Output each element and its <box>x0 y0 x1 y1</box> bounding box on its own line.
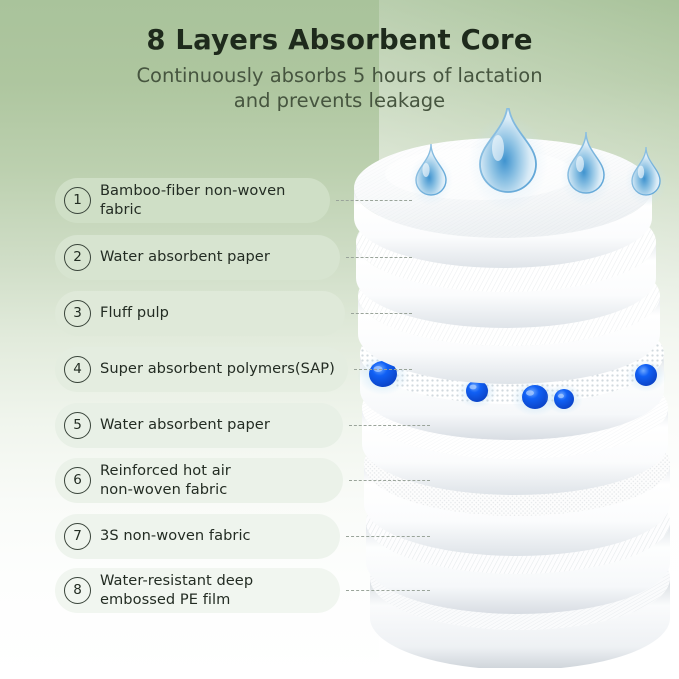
layer-label-3: Fluff pulp <box>100 304 169 323</box>
layer-label-1: Bamboo-fiber non-woven fabric <box>100 182 330 219</box>
page-subtitle: Continuously absorbs 5 hours of lactatio… <box>0 64 679 112</box>
layer-label-6: Reinforced hot air non-woven fabric <box>100 462 231 499</box>
layer-pill-3[interactable]: 3Fluff pulp <box>55 291 345 336</box>
layer-number-3: 3 <box>64 300 91 327</box>
layer-pill-1[interactable]: 1Bamboo-fiber non-woven fabric <box>55 178 330 223</box>
layer-number-8: 8 <box>64 577 91 604</box>
page-title: 8 Layers Absorbent Core <box>0 24 679 56</box>
layer-pill-6[interactable]: 6Reinforced hot air non-woven fabric <box>55 458 343 503</box>
header: 8 Layers Absorbent Core Continuously abs… <box>0 24 679 113</box>
connector-line-5 <box>349 425 430 426</box>
layer-label-7: 3S non-woven fabric <box>100 527 251 546</box>
layer-number-5: 5 <box>64 412 91 439</box>
connector-line-1 <box>336 200 412 201</box>
subtitle-line-2: and prevents leakage <box>0 89 679 113</box>
connector-line-6 <box>349 480 430 481</box>
connector-line-3 <box>351 313 412 314</box>
layer-pill-7[interactable]: 73S non-woven fabric <box>55 514 340 559</box>
droplet-large <box>468 108 548 211</box>
droplet-small-right <box>625 147 667 206</box>
absorbent-core-illustration <box>330 108 679 668</box>
layer-number-4: 4 <box>64 356 91 383</box>
layer-label-2: Water absorbent paper <box>100 248 270 267</box>
layer-label-4: Super absorbent polymers(SAP) <box>100 360 335 379</box>
layer-pill-2[interactable]: 2Water absorbent paper <box>55 235 340 280</box>
layer-pill-5[interactable]: 5Water absorbent paper <box>55 403 343 448</box>
layer-pill-4[interactable]: 4Super absorbent polymers(SAP) <box>55 347 348 392</box>
connector-line-4 <box>354 369 412 370</box>
layer-number-7: 7 <box>64 523 91 550</box>
connector-line-7 <box>346 536 430 537</box>
layer-number-6: 6 <box>64 467 91 494</box>
infographic-canvas: 8 Layers Absorbent Core Continuously abs… <box>0 0 679 679</box>
connector-line-2 <box>346 257 412 258</box>
layer-pill-8[interactable]: 8Water-resistant deep embossed PE film <box>55 568 340 613</box>
layer-number-1: 1 <box>64 187 91 214</box>
connector-line-8 <box>346 590 430 591</box>
layer-label-8: Water-resistant deep embossed PE film <box>100 572 253 609</box>
layer-label-5: Water absorbent paper <box>100 416 270 435</box>
layer-number-2: 2 <box>64 244 91 271</box>
subtitle-line-1: Continuously absorbs 5 hours of lactatio… <box>0 64 679 88</box>
